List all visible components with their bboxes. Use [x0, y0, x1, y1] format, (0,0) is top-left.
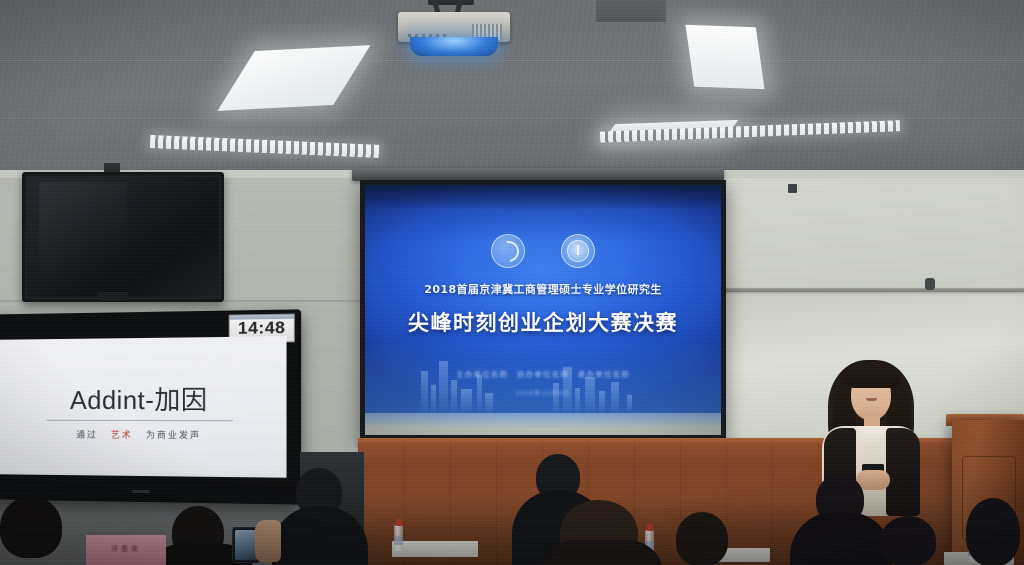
screen-vignette — [365, 185, 721, 435]
foreground-shadow — [0, 470, 1024, 565]
presenter-hair-front — [844, 362, 900, 388]
projector-lens-glow — [410, 37, 498, 56]
subtitle-prefix: 通过 — [76, 430, 97, 440]
preview-slide-subtitle: 通过 艺术 为商业发声 — [0, 427, 287, 441]
monitor-screen: Addint-加因 通过 艺术 为商业发声 — [0, 336, 287, 477]
ceiling-projector — [398, 6, 510, 54]
presenter-mouth — [866, 398, 877, 401]
lecture-hall-photo: 2018首届京津冀工商管理硕士专业学位研究生 尖峰时刻创业企划大赛决赛 主办单位… — [0, 0, 1024, 565]
tv-screen-glare — [39, 182, 127, 292]
tv-screen — [27, 177, 219, 297]
air-vent — [596, 0, 666, 22]
ceiling — [0, 0, 1024, 186]
subtitle-highlight: 艺术 — [111, 430, 133, 440]
wall-mark — [788, 184, 797, 193]
tv-bottom-mount — [98, 292, 128, 301]
ceiling-light-panel — [685, 25, 764, 89]
whiteboard-rail — [700, 288, 1024, 292]
ceiling-texture — [0, 0, 1024, 186]
projection-screen: 2018首届京津冀工商管理硕士专业学位研究生 尖峰时刻创业企划大赛决赛 主办单位… — [360, 180, 726, 440]
ceiling-seam — [0, 60, 1024, 61]
preview-slide-divider — [46, 420, 232, 421]
ceiling-seam — [0, 118, 1024, 119]
preview-slide-title: Addint-加因 — [0, 379, 287, 417]
wall-mounted-tv — [22, 172, 224, 302]
whiteboard-knob — [925, 278, 935, 290]
subtitle-suffix: 为商业发声 — [146, 430, 201, 440]
